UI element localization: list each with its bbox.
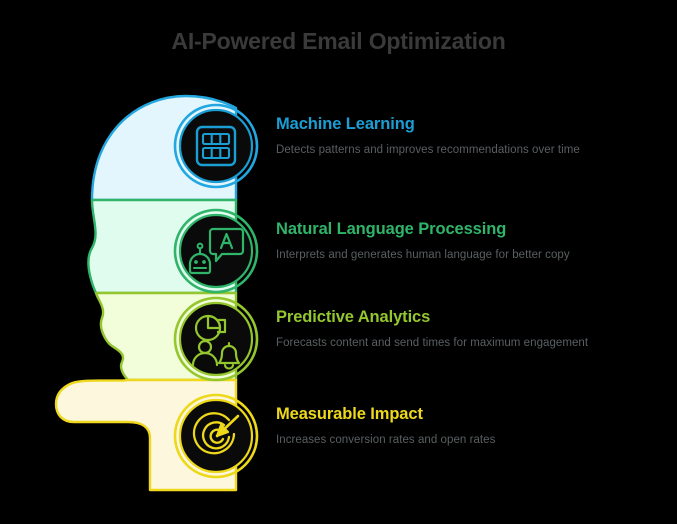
- feature-title-predictive-analytics: Predictive Analytics: [276, 309, 671, 326]
- feature-row-predictive-analytics: Predictive Analytics Forecasts content a…: [172, 295, 677, 391]
- feature-description-measurable-impact: Increases conversion rates and open rate…: [276, 432, 671, 449]
- feature-row-measurable-impact: Measurable Impact Increases conversion r…: [172, 392, 677, 488]
- feature-title-natural-language-processing: Natural Language Processing: [276, 221, 671, 238]
- feature-row-machine-learning: Machine Learning Detects patterns and im…: [172, 102, 677, 198]
- feature-description-natural-language-processing: Interprets and generates human language …: [276, 247, 671, 264]
- chip-grid-icon[interactable]: [172, 102, 260, 190]
- feature-text-machine-learning: Machine Learning Detects patterns and im…: [276, 116, 671, 159]
- feature-text-predictive-analytics: Predictive Analytics Forecasts content a…: [276, 309, 671, 352]
- feature-description-predictive-analytics: Forecasts content and send times for max…: [276, 335, 671, 352]
- feature-title-machine-learning: Machine Learning: [276, 116, 671, 133]
- feature-row-natural-language-processing: Natural Language Processing Interprets a…: [172, 207, 677, 303]
- pie-chart-person-bell-icon[interactable]: [172, 295, 260, 383]
- target-arrow-icon[interactable]: [172, 392, 260, 480]
- chatbot-speech-bubble-icon[interactable]: [172, 207, 260, 295]
- feature-title-measurable-impact: Measurable Impact: [276, 406, 671, 423]
- feature-text-measurable-impact: Measurable Impact Increases conversion r…: [276, 406, 671, 449]
- feature-description-machine-learning: Detects patterns and improves recommenda…: [276, 142, 671, 159]
- feature-text-natural-language-processing: Natural Language Processing Interprets a…: [276, 221, 671, 264]
